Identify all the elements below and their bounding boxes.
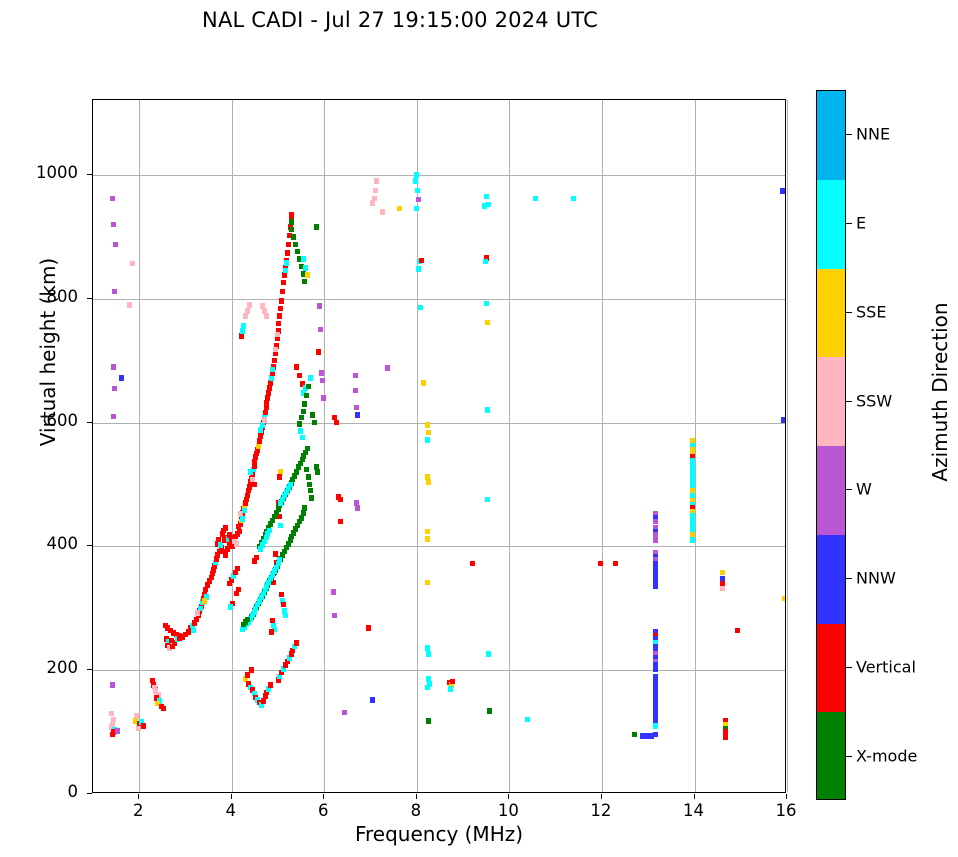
scatter-point <box>241 323 246 329</box>
scatter-point <box>653 666 658 672</box>
y-axis-tick-label: 400 <box>18 534 78 553</box>
plot-area <box>92 99 786 793</box>
scatter-point <box>260 303 265 309</box>
scatter-point <box>294 640 299 646</box>
scatter-point <box>353 373 358 379</box>
scatter-point <box>318 327 323 333</box>
colorbar-tick <box>846 401 852 402</box>
scatter-point <box>260 422 265 428</box>
scatter-point <box>127 302 132 308</box>
scatter-point <box>239 333 244 339</box>
x-axis-tick-label: 2 <box>108 801 168 820</box>
y-axis-tick-label: 200 <box>18 658 78 677</box>
scatter-point <box>277 474 282 480</box>
scatter-point <box>354 405 359 411</box>
scatter-point <box>374 178 379 184</box>
scatter-point <box>283 613 288 619</box>
scatter-point <box>314 224 319 230</box>
colorbar-label-e: E <box>856 214 866 233</box>
colorbar-tick <box>846 667 852 668</box>
scatter-point <box>111 414 116 420</box>
scatter-point <box>294 469 299 475</box>
colorbar-label-nne: NNE <box>856 125 890 144</box>
scatter-point <box>486 202 491 208</box>
scatter-point <box>426 430 431 436</box>
colorbar-label-x-mode: X-mode <box>856 746 917 765</box>
scatter-point <box>278 306 283 312</box>
x-axis-tick <box>138 794 139 799</box>
scatter-point <box>297 421 302 427</box>
scatter-point <box>425 580 430 586</box>
x-axis-tick <box>601 794 602 799</box>
scatter-point <box>304 393 309 399</box>
colorbar-label-w: W <box>856 480 872 499</box>
scatter-point <box>111 222 116 228</box>
x-axis-title: Frequency (MHz) <box>92 822 786 846</box>
scatter-point <box>316 349 321 355</box>
scatter-point <box>265 395 270 401</box>
scatter-point <box>571 196 576 202</box>
scatter-point <box>248 469 253 475</box>
scatter-point <box>425 529 430 535</box>
scatter-point <box>282 272 287 278</box>
y-axis-tick <box>87 174 92 175</box>
scatter-point <box>305 272 310 278</box>
scatter-point <box>297 373 302 379</box>
colorbar-label-sse: SSE <box>856 302 886 321</box>
scatter-point <box>284 260 289 266</box>
scatter-point <box>321 395 326 401</box>
scatter-point <box>161 706 166 712</box>
y-axis-title: Virtual height (km) <box>36 222 60 482</box>
scatter-point <box>257 438 262 444</box>
scatter-point <box>306 384 311 390</box>
scatter-point <box>338 497 343 503</box>
scatter-point <box>334 420 339 426</box>
x-axis-tick-label: 8 <box>386 801 446 820</box>
scatter-point <box>426 718 431 724</box>
scatter-point <box>276 321 281 327</box>
scatter-point <box>113 242 118 248</box>
scatter-point <box>483 259 488 265</box>
colorbar-title: Azimuth Direction <box>928 252 952 532</box>
scatter-point <box>254 555 259 561</box>
scatter-point <box>272 358 277 364</box>
scatter-point <box>256 443 261 449</box>
scatter-point <box>234 591 239 597</box>
scatter-point <box>310 412 315 418</box>
x-axis-tick <box>786 794 787 799</box>
scatter-point <box>370 200 375 206</box>
scatter-point <box>288 482 293 488</box>
colorbar-segment-sse <box>817 269 845 358</box>
scatter-point <box>223 525 228 531</box>
scatter-point <box>304 467 309 473</box>
scatter-point <box>235 566 240 572</box>
scatter-point <box>264 313 269 319</box>
scatter-point <box>243 313 248 319</box>
scatter-point <box>303 265 308 271</box>
x-axis-tick-label: 16 <box>756 801 816 820</box>
scatter-point <box>281 602 286 608</box>
scatter-point <box>279 592 284 598</box>
scatter-point <box>268 380 273 386</box>
scatter-point <box>781 417 785 423</box>
scatter-point <box>141 723 146 729</box>
scatter-point <box>353 388 358 394</box>
scatter-point <box>299 415 304 421</box>
scatter-point <box>385 365 390 371</box>
colorbar-tick <box>846 756 852 757</box>
scatter-point <box>285 250 290 256</box>
scatter-point <box>317 303 322 309</box>
scatter-point <box>237 529 242 535</box>
scatter-point <box>653 537 658 543</box>
scatter-point <box>228 604 233 610</box>
scatter-point <box>332 415 337 421</box>
colorbar-segment-e <box>817 180 845 269</box>
scatter-point <box>414 172 419 178</box>
scatter-point <box>312 420 317 426</box>
scatter-point <box>111 364 116 370</box>
scatter-point <box>266 390 271 396</box>
scatter-point <box>487 708 492 714</box>
scatter-point <box>421 380 426 386</box>
scatter-point <box>300 435 305 441</box>
scatter-point <box>533 196 538 202</box>
scatter-point <box>249 667 254 673</box>
scatter-point <box>486 651 491 657</box>
scatter-point <box>195 610 200 616</box>
gridline-vertical <box>787 100 788 792</box>
scatter-point <box>484 194 489 200</box>
scatter-point <box>281 280 286 286</box>
scatter-point <box>283 268 288 274</box>
scatter-point <box>218 542 223 548</box>
scatter-point <box>598 561 603 567</box>
scatter-point <box>152 685 157 691</box>
colorbar-tick <box>846 489 852 490</box>
y-axis-tick <box>87 793 92 794</box>
scatter-point <box>416 266 421 272</box>
scatter-point <box>242 508 247 514</box>
x-axis-tick-label: 12 <box>571 801 631 820</box>
scatter-point <box>485 407 490 413</box>
scatter-point <box>262 417 267 423</box>
scatter-point <box>425 685 430 691</box>
scatter-point <box>632 732 637 738</box>
scatter-point <box>653 583 658 589</box>
scatter-points-layer <box>93 100 785 792</box>
scatter-point <box>419 258 424 264</box>
scatter-point <box>319 370 324 376</box>
scatter-point <box>413 178 418 184</box>
x-axis-tick <box>323 794 324 799</box>
scatter-point <box>366 625 371 631</box>
scatter-point <box>307 482 312 488</box>
scatter-point <box>653 519 658 525</box>
x-axis-tick-label: 6 <box>293 801 353 820</box>
scatter-point <box>308 488 313 494</box>
scatter-point <box>191 628 196 634</box>
scatter-point <box>649 733 654 739</box>
scatter-point <box>450 679 455 685</box>
scatter-point <box>150 678 155 684</box>
y-axis-tick-label: 1000 <box>18 163 78 182</box>
scatter-point <box>203 587 208 593</box>
y-axis-tick <box>87 298 92 299</box>
scatter-point <box>109 711 114 717</box>
scatter-point <box>273 347 278 353</box>
scatter-point <box>320 378 325 384</box>
scatter-point <box>355 505 360 511</box>
scatter-point <box>425 645 430 651</box>
scatter-point <box>426 651 431 657</box>
scatter-point <box>782 596 785 602</box>
scatter-point <box>418 305 423 311</box>
colorbar-tick <box>846 223 852 224</box>
scatter-point <box>267 385 272 391</box>
scatter-point <box>136 726 141 732</box>
scatter-point <box>338 519 343 525</box>
scatter-point <box>293 242 298 248</box>
scatter-point <box>275 332 280 338</box>
colorbar-tick <box>846 312 852 313</box>
scatter-point <box>269 375 274 381</box>
colorbar-segment-x-mode <box>817 712 845 800</box>
scatter-point <box>261 698 266 704</box>
scatter-point <box>258 427 263 433</box>
scatter-point <box>289 212 294 218</box>
scatter-point <box>240 627 245 633</box>
scatter-point <box>301 409 306 415</box>
scatter-point <box>448 686 453 692</box>
scatter-point <box>315 469 320 475</box>
scatter-point <box>723 734 728 740</box>
scatter-point <box>640 733 645 739</box>
colorbar-label-nnw: NNW <box>856 569 896 588</box>
scatter-point <box>119 375 124 381</box>
scatter-point <box>425 422 430 428</box>
scatter-point <box>289 219 294 225</box>
scatter-point <box>306 474 311 480</box>
scatter-point <box>332 613 337 619</box>
scatter-point <box>112 289 117 295</box>
scatter-point <box>170 644 175 650</box>
scatter-point <box>234 541 239 547</box>
scatter-point <box>342 710 347 716</box>
scatter-point <box>302 401 307 407</box>
x-axis-tick <box>416 794 417 799</box>
scatter-point <box>416 197 421 203</box>
scatter-point <box>690 537 695 543</box>
scatter-point <box>245 493 250 499</box>
scatter-point <box>525 717 530 723</box>
scatter-point <box>298 428 303 434</box>
scatter-point <box>130 261 135 267</box>
scatter-point <box>277 313 282 319</box>
scatter-point <box>202 598 207 604</box>
scatter-point <box>653 723 658 729</box>
scatter-point <box>245 308 250 314</box>
scatter-point <box>264 400 269 406</box>
colorbar-label-vertical: Vertical <box>856 657 916 676</box>
scatter-point <box>425 437 430 443</box>
scatter-point <box>397 206 402 212</box>
scatter-point <box>380 209 385 215</box>
scatter-point <box>280 289 285 295</box>
colorbar-segment-ssw <box>817 357 845 446</box>
scatter-point <box>613 561 618 567</box>
colorbar <box>816 90 846 800</box>
scatter-point <box>425 536 430 542</box>
y-axis-tick <box>87 422 92 423</box>
scatter-point <box>415 188 420 194</box>
scatter-point <box>294 364 299 370</box>
x-axis-tick-label: 14 <box>664 801 724 820</box>
scatter-point <box>302 279 307 285</box>
scatter-point <box>241 622 246 628</box>
colorbar-tick <box>846 134 852 135</box>
scatter-point <box>291 234 296 240</box>
colorbar-segment-nne <box>817 91 845 180</box>
scatter-point <box>245 672 250 678</box>
colorbar-segment-nnw <box>817 535 845 624</box>
y-axis-tick <box>87 545 92 546</box>
scatter-point <box>278 523 283 529</box>
y-axis-tick <box>87 669 92 670</box>
x-axis-tick-label: 10 <box>478 801 538 820</box>
ionogram-figure: NAL CADI - Jul 27 19:15:00 2024 UTC 2468… <box>0 0 958 857</box>
scatter-point <box>289 227 294 233</box>
scatter-point <box>115 728 120 734</box>
scatter-point <box>308 375 313 381</box>
x-axis-tick <box>694 794 695 799</box>
scatter-point <box>301 256 306 262</box>
colorbar-segment-w <box>817 446 845 535</box>
colorbar-tick <box>846 578 852 579</box>
scatter-point <box>305 446 310 452</box>
scatter-point <box>720 586 725 592</box>
scatter-point <box>110 682 115 688</box>
scatter-point <box>355 412 360 418</box>
colorbar-segment-vertical <box>817 624 845 713</box>
scatter-point <box>485 320 490 326</box>
scatter-point <box>370 697 375 703</box>
scatter-point <box>270 367 275 373</box>
scatter-point <box>735 628 740 634</box>
scatter-point <box>223 552 228 558</box>
scatter-point <box>267 528 272 534</box>
scatter-point <box>269 629 274 635</box>
scatter-point <box>720 570 725 576</box>
scatter-point <box>268 682 273 688</box>
x-axis-tick <box>231 794 232 799</box>
scatter-point <box>252 482 257 488</box>
scatter-point <box>112 386 117 392</box>
scatter-point <box>645 733 650 739</box>
scatter-point <box>780 188 785 194</box>
scatter-point <box>470 561 475 567</box>
scatter-point <box>279 298 284 304</box>
scatter-point <box>414 206 419 212</box>
scatter-point <box>484 301 489 307</box>
scatter-point <box>286 242 291 248</box>
figure-title: NAL CADI - Jul 27 19:15:00 2024 UTC <box>0 8 800 32</box>
scatter-point <box>295 249 300 255</box>
colorbar-label-ssw: SSW <box>856 391 892 410</box>
scatter-point <box>485 497 490 503</box>
scatter-point <box>373 188 378 194</box>
y-axis-tick-label: 0 <box>18 782 78 801</box>
x-axis-tick <box>508 794 509 799</box>
scatter-point <box>240 516 245 522</box>
scatter-point <box>264 405 269 411</box>
scatter-point <box>240 328 245 334</box>
scatter-point <box>309 495 314 501</box>
scatter-point <box>426 479 431 485</box>
scatter-point <box>331 589 336 595</box>
x-axis-tick-label: 4 <box>201 801 261 820</box>
scatter-point <box>110 196 115 202</box>
scatter-point <box>247 302 252 308</box>
scatter-point <box>263 410 268 416</box>
